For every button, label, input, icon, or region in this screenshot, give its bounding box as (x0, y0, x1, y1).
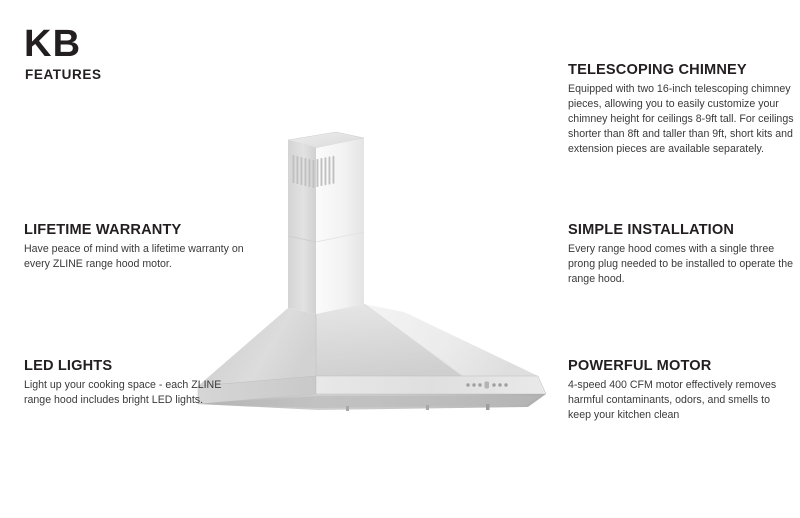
underside-tab (486, 404, 490, 410)
feature-sheet: KB FEATURES (0, 0, 800, 518)
feature-body: Every range hood comes with a single thr… (568, 242, 794, 287)
feature-body: Have peace of mind with a lifetime warra… (24, 242, 262, 272)
underside-tab (346, 406, 349, 411)
feature-title: SIMPLE INSTALLATION (568, 222, 794, 238)
feature-simple-installation: SIMPLE INSTALLATION Every range hood com… (568, 222, 794, 287)
pyramidal-canopy (198, 304, 538, 386)
feature-body: Equipped with two 16-inch telescoping ch… (568, 82, 794, 157)
rim-front-face (316, 376, 546, 394)
feature-title: POWERFUL MOTOR (568, 358, 794, 374)
feature-lifetime-warranty: LIFETIME WARRANTY Have peace of mind wit… (24, 222, 262, 272)
feature-title: TELESCOPING CHIMNEY (568, 62, 794, 78)
feature-led-lights: LED LIGHTS Light up your cooking space -… (24, 358, 224, 408)
feature-title: LIFETIME WARRANTY (24, 222, 262, 238)
feature-body: Light up your cooking space - each ZLINE… (24, 378, 224, 408)
brand-block: KB FEATURES (24, 26, 264, 82)
underside-tab (426, 405, 429, 410)
brand-subtitle: FEATURES (25, 67, 264, 82)
feature-body: 4-speed 400 CFM motor effectively remove… (568, 378, 794, 423)
chimney-column (288, 132, 364, 314)
range-hood-illustration (168, 118, 568, 428)
brand-title: KB (24, 26, 264, 62)
feature-powerful-motor: POWERFUL MOTOR 4-speed 400 CFM motor eff… (568, 358, 794, 423)
chimney-side-face (316, 138, 364, 314)
feature-telescoping-chimney: TELESCOPING CHIMNEY Equipped with two 16… (568, 62, 794, 157)
feature-title: LED LIGHTS (24, 358, 224, 374)
